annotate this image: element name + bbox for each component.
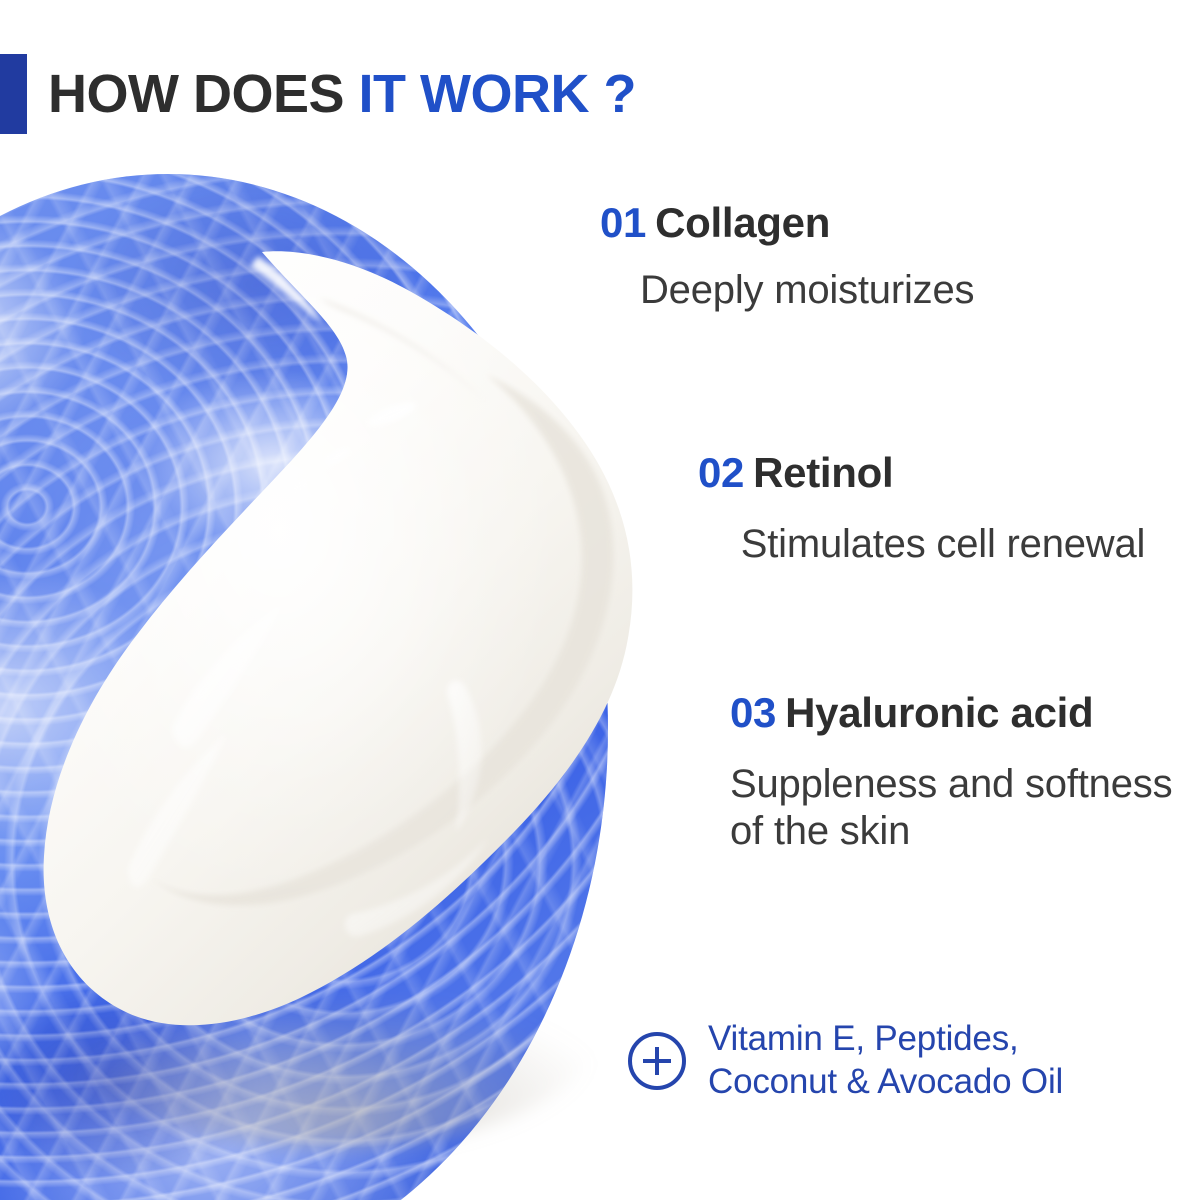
- ingredient-heading-02: 02Retinol: [698, 450, 1198, 495]
- ingredient-name-01: Collagen: [655, 199, 830, 246]
- plus-circle-icon: [628, 1032, 686, 1090]
- ingredient-heading-01: 01Collagen: [600, 200, 1200, 245]
- ingredient-name-02: Retinol: [753, 449, 893, 496]
- extra-ingredients-row: Vitamin E, Peptides, Coconut & Avocado O…: [628, 1018, 1063, 1103]
- water-texture-disc: [0, 174, 608, 1200]
- product-visual: [0, 168, 640, 1200]
- water-glow-overlay: [0, 174, 608, 1200]
- ingredient-number-02: 02: [698, 449, 744, 496]
- page-title: HOW DOES IT WORK ?: [48, 67, 636, 121]
- page-title-blue: IT WORK ?: [359, 64, 636, 124]
- ingredient-heading-03: 03Hyaluronic acid: [730, 690, 1200, 735]
- page-title-dark: HOW DOES: [48, 64, 344, 124]
- ingredient-name-03: Hyaluronic acid: [785, 689, 1093, 736]
- ingredient-item-03: 03Hyaluronic acid Suppleness and softnes…: [730, 690, 1200, 855]
- header-accent-bar: [0, 54, 27, 134]
- page-header: HOW DOES IT WORK ?: [0, 52, 636, 136]
- ingredient-item-01: 01Collagen Deeply moisturizes: [600, 200, 1200, 314]
- infographic-page: HOW DOES IT WORK ?: [0, 0, 1200, 1200]
- extra-ingredients-text: Vitamin E, Peptides, Coconut & Avocado O…: [708, 1018, 1063, 1103]
- ingredient-description-01: Deeply moisturizes: [600, 267, 1200, 314]
- ingredient-description-03: Suppleness and softness of the skin: [730, 761, 1200, 855]
- ingredient-number-03: 03: [730, 689, 776, 736]
- ingredient-number-01: 01: [600, 199, 646, 246]
- ingredient-item-02: 02Retinol Stimulates cell renewal: [698, 450, 1198, 568]
- ingredient-description-02: Stimulates cell renewal: [698, 521, 1198, 568]
